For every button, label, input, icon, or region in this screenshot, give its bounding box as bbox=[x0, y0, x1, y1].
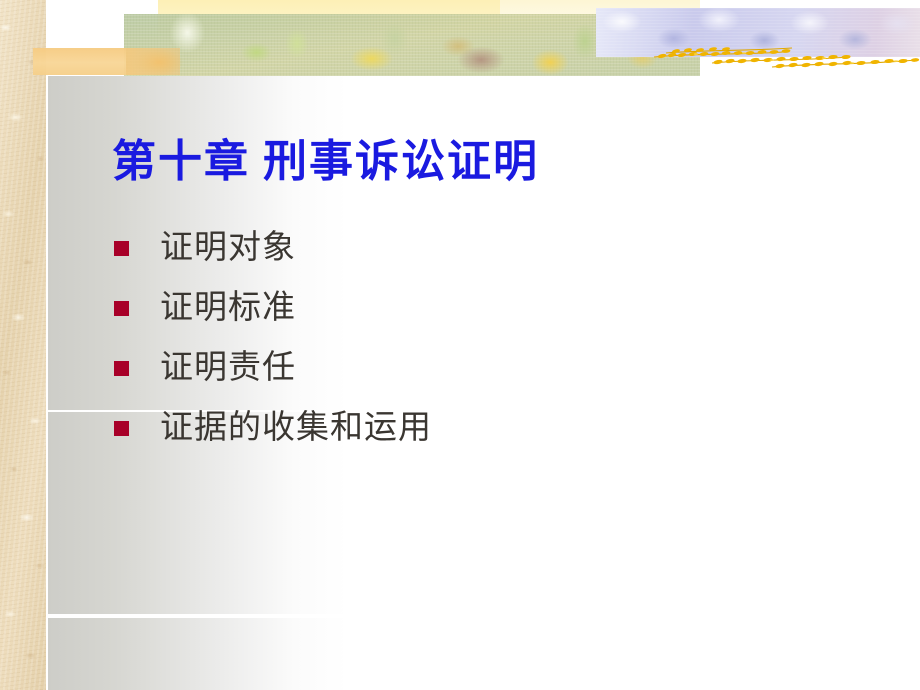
square-bullet-icon bbox=[114, 361, 129, 376]
left-texture-band bbox=[0, 0, 46, 690]
list-item-label: 证明对象 bbox=[160, 228, 296, 268]
square-bullet-icon bbox=[114, 301, 129, 316]
list-item[interactable]: 证明标准 bbox=[114, 278, 834, 338]
square-bullet-icon bbox=[114, 241, 129, 256]
list-item-label: 证明责任 bbox=[160, 348, 296, 388]
list-item-label: 证据的收集和运用 bbox=[160, 408, 432, 448]
banner-orange-plate-fade bbox=[126, 48, 180, 75]
list-item[interactable]: 证明责任 bbox=[114, 338, 834, 398]
bullet-list: 证明对象 证明标准 证明责任 证据的收集和运用 bbox=[114, 218, 834, 458]
list-item[interactable]: 证明对象 bbox=[114, 218, 834, 278]
list-item[interactable]: 证据的收集和运用 bbox=[114, 398, 834, 458]
square-bullet-icon bbox=[114, 421, 129, 436]
divider-rule-lower bbox=[48, 615, 348, 617]
list-item-label: 证明标准 bbox=[160, 288, 296, 328]
banner-orange-plate bbox=[33, 48, 126, 75]
slide-title: 第十章 刑事诉讼证明 bbox=[112, 135, 852, 189]
decorative-banner bbox=[0, 0, 920, 76]
presentation-slide: 第十章 刑事诉讼证明 证明对象 证明标准 证明责任 证据的收集和运用 bbox=[0, 0, 920, 690]
gradient-panel-lower bbox=[48, 618, 348, 690]
wheat-stalks-icon bbox=[652, 44, 920, 72]
